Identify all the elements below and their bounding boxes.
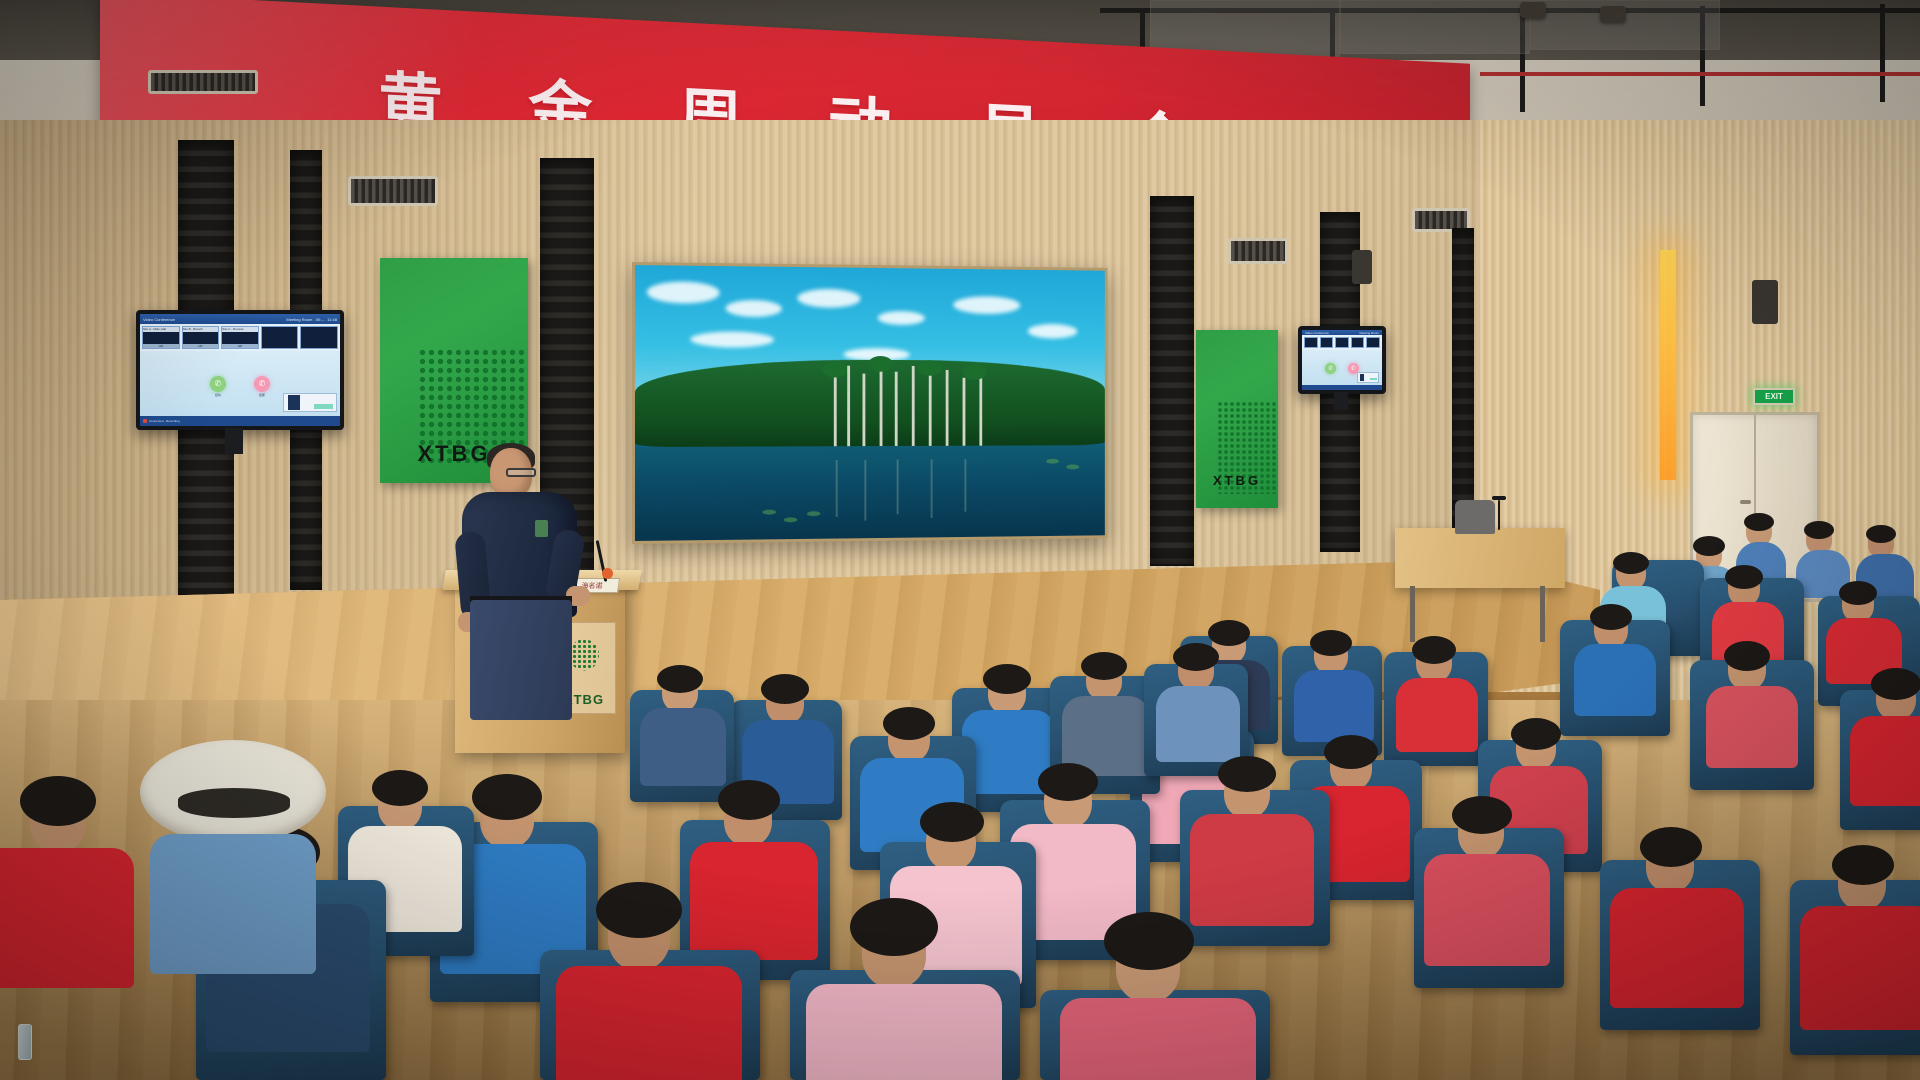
hair xyxy=(1804,521,1834,539)
exit-sign-icon: EXIT xyxy=(1753,388,1795,405)
monitor-left-status-right: Meeting Room . 00:-- . 11:48 xyxy=(286,317,337,322)
torso xyxy=(1424,854,1550,966)
hair xyxy=(1640,827,1702,867)
monitor-left-thumbnail-strip: Site A - Main Hall HD Site B - Branch HD… xyxy=(140,324,340,351)
poster-right-xtbg: XTBG xyxy=(1196,330,1278,508)
hair xyxy=(1081,652,1127,680)
participant-thumbnail[interactable] xyxy=(261,326,299,349)
mural-palm-trunk xyxy=(834,370,837,454)
hair xyxy=(20,776,96,826)
torso xyxy=(1610,888,1744,1008)
hair xyxy=(1839,581,1877,605)
participant-thumbnail[interactable]: Site C - Remote HD xyxy=(221,326,259,349)
torso xyxy=(1190,814,1314,926)
participant-thumbnail[interactable] xyxy=(1335,337,1349,347)
hair xyxy=(883,707,935,740)
mural-palm-trunk xyxy=(963,378,966,456)
rail-red-stripe xyxy=(1480,72,1920,76)
monitor-right-body: ✆ ✆ xyxy=(1302,350,1382,385)
monitor-left-screen[interactable]: Video Conference Meeting Room . 00:-- . … xyxy=(140,314,340,426)
hair xyxy=(718,780,780,820)
mural-palm-trunk xyxy=(979,372,982,455)
mural-reflection xyxy=(897,460,899,515)
monitor-right-status-right: Meeting Room xyxy=(1359,331,1379,335)
hair xyxy=(1218,756,1276,792)
pip-dark-region xyxy=(1360,374,1364,381)
presenter-glasses xyxy=(506,468,536,477)
mural-cloud xyxy=(878,311,925,325)
mural-lily-pad xyxy=(1066,464,1079,469)
mural-palm-trunk xyxy=(895,372,898,456)
hair xyxy=(1511,718,1561,750)
torso xyxy=(806,984,1002,1080)
hangup-call-control[interactable]: ✆ 挂断 xyxy=(254,376,270,397)
presenter-trousers xyxy=(470,600,572,720)
wall-accent-light xyxy=(1660,250,1676,480)
torso xyxy=(1706,686,1798,768)
mural-palm-trunk xyxy=(929,376,932,456)
air-vent xyxy=(148,70,258,94)
monitor-left-status-text: Connected . Recording xyxy=(149,419,180,423)
pip-green-region xyxy=(314,404,333,409)
mural-reflection xyxy=(864,460,866,521)
hair xyxy=(850,898,938,956)
participant-status: HD xyxy=(143,344,179,348)
hair xyxy=(1725,565,1763,589)
lectern-microphone-head xyxy=(602,568,613,579)
hair xyxy=(1693,536,1725,556)
poster-label: XTBG xyxy=(1196,473,1278,488)
hair xyxy=(983,664,1031,694)
air-vent xyxy=(1228,238,1288,264)
torso xyxy=(1850,716,1920,806)
auditorium-scene: 黄 金 周 动 员 会 XTBG XTBG xyxy=(0,0,1920,1080)
mural-cloud xyxy=(797,289,860,308)
ceiling-spotlight xyxy=(1600,6,1626,22)
mural-cloud xyxy=(690,331,774,347)
hair xyxy=(1613,552,1649,574)
participant-label: Site C - Remote xyxy=(222,327,258,332)
mural-water xyxy=(635,445,1105,541)
answer-call-control[interactable]: ✆ xyxy=(1325,363,1336,374)
stage-chair xyxy=(1455,500,1495,534)
monitor-right-app-title: Video Conference xyxy=(1305,331,1329,335)
hair xyxy=(1208,620,1250,646)
phone-hangup-icon[interactable]: ✆ xyxy=(254,376,270,392)
torso xyxy=(640,708,726,786)
monitor-left[interactable]: Video Conference Meeting Room . 00:-- . … xyxy=(136,310,344,430)
mural-palm-crown xyxy=(822,362,847,378)
hair xyxy=(1871,668,1920,700)
hair xyxy=(1104,912,1194,970)
ceiling-panel xyxy=(1340,0,1530,54)
torso xyxy=(0,848,134,988)
hair xyxy=(1590,604,1632,630)
mural-reflection xyxy=(836,460,838,517)
mural-reflection xyxy=(964,459,966,511)
participant-thumbnail[interactable] xyxy=(300,326,338,349)
wall-speaker xyxy=(1752,280,1778,324)
monitor-left-titlebar: Video Conference Meeting Room . 00:-- . … xyxy=(140,314,340,324)
stage-mural xyxy=(632,262,1108,544)
mural-palm-crown xyxy=(917,360,941,376)
monitor-right[interactable]: Video Conference Meeting Room ✆ ✆ xyxy=(1298,326,1386,394)
table-microphone-head xyxy=(1492,496,1506,500)
phone-icon[interactable]: ✆ xyxy=(210,376,226,392)
participant-label: Site A - Main Hall xyxy=(143,327,179,332)
door-handle[interactable] xyxy=(1740,500,1751,504)
hair xyxy=(920,802,984,842)
hat-band xyxy=(178,788,290,818)
monitor-left-mount xyxy=(225,428,243,454)
torso xyxy=(150,834,316,974)
participant-status: HD xyxy=(222,344,258,348)
hair xyxy=(1452,796,1512,834)
mural-palm-crown xyxy=(868,356,893,372)
wall-speaker xyxy=(1352,250,1372,284)
mural-palm-trunk xyxy=(912,366,915,456)
participant-thumbnail[interactable] xyxy=(1320,337,1334,347)
mural-palm-crown xyxy=(963,364,987,380)
hair xyxy=(1038,763,1098,801)
mural-reflection xyxy=(931,459,933,517)
monitor-left-body: ✆ 接听 ✆ 挂断 xyxy=(140,351,340,416)
acoustic-panel xyxy=(1150,196,1194,566)
hair xyxy=(1744,513,1774,531)
mural-palm-trunk xyxy=(847,366,850,454)
mural-cloud xyxy=(726,300,782,317)
hair xyxy=(761,674,809,704)
hair xyxy=(472,774,542,820)
table-leg xyxy=(1410,586,1415,642)
hair xyxy=(1724,641,1770,671)
exit-sign-label: EXIT xyxy=(1765,392,1783,401)
rail-post xyxy=(1880,4,1885,102)
participant-thumbnail[interactable] xyxy=(1351,337,1365,347)
pip-dark-region xyxy=(288,395,299,410)
hair xyxy=(1832,845,1894,885)
monitor-right-statusbar xyxy=(1302,385,1382,390)
recording-indicator-icon xyxy=(143,419,147,423)
monitor-right-screen[interactable]: Video Conference Meeting Room ✆ ✆ xyxy=(1302,330,1382,390)
mural-palm-trunk xyxy=(946,370,949,456)
participant-status: HD xyxy=(183,344,219,348)
mural-cloud xyxy=(1028,324,1078,339)
answer-label: 接听 xyxy=(210,393,226,397)
torso xyxy=(1396,678,1478,752)
air-vent xyxy=(348,176,438,206)
picture-in-picture-preview[interactable] xyxy=(283,393,337,412)
hair xyxy=(657,665,703,693)
table-microphone-stand xyxy=(1498,500,1500,530)
torso xyxy=(1060,998,1256,1080)
torso xyxy=(1800,906,1920,1030)
mural-treeline xyxy=(635,359,1105,447)
torso xyxy=(690,842,818,960)
mural-lily-pad xyxy=(1046,459,1059,464)
participant-thumbnail[interactable]: Site A - Main Hall HD xyxy=(142,326,180,349)
hair xyxy=(372,770,428,806)
hair xyxy=(1324,735,1378,769)
acoustic-panel xyxy=(1452,228,1474,528)
monitor-right-mount xyxy=(1334,392,1348,410)
table-leg xyxy=(1540,586,1545,642)
ceiling-spotlight xyxy=(1520,2,1546,18)
hair xyxy=(1310,630,1352,656)
torso xyxy=(556,966,742,1080)
monitor-right-thumbnail-strip xyxy=(1302,335,1382,349)
mural-image xyxy=(635,265,1105,541)
monitor-left-app-title: Video Conference xyxy=(143,317,175,322)
participant-thumbnail[interactable]: Site B - Branch HD xyxy=(182,326,220,349)
torso xyxy=(1294,670,1374,742)
water-bottle xyxy=(18,1024,32,1060)
picture-in-picture-preview[interactable] xyxy=(1357,372,1379,382)
stage-side-table xyxy=(1395,528,1565,588)
torso xyxy=(1156,686,1240,762)
hair xyxy=(1173,643,1219,671)
monitor-left-statusbar: Connected . Recording xyxy=(140,416,340,426)
hangup-label: 挂断 xyxy=(254,393,270,397)
presenter-badge-icon xyxy=(535,520,548,537)
mural-palm-trunk xyxy=(862,374,865,456)
torso xyxy=(1574,644,1656,716)
participant-label: Site B - Branch xyxy=(183,327,219,332)
participant-thumbnail[interactable] xyxy=(1304,337,1318,347)
mural-palm-trunk xyxy=(880,364,883,456)
hair xyxy=(1866,525,1896,543)
participant-thumbnail[interactable] xyxy=(1366,337,1380,347)
answer-call-control[interactable]: ✆ 接听 xyxy=(210,376,226,397)
phone-icon[interactable]: ✆ xyxy=(1325,363,1336,374)
hair xyxy=(1412,636,1456,664)
pip-green-region xyxy=(1370,378,1377,380)
hair xyxy=(596,882,682,938)
